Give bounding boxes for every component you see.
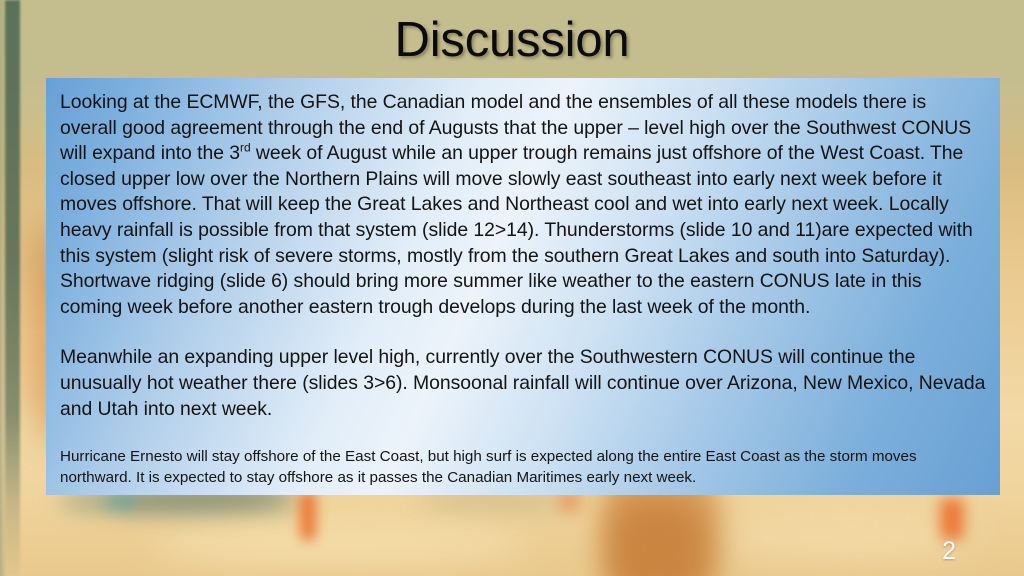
background-blur-blob [300, 492, 316, 540]
background-blur-blob [940, 498, 964, 540]
page-title: Discussion [0, 16, 1024, 65]
slide-number: 2 [942, 539, 956, 564]
discussion-text-content: Looking at the ECMWF, the GFS, the Canad… [46, 78, 1000, 495]
discussion-text-box: Looking at the ECMWF, the GFS, the Canad… [46, 78, 1000, 495]
background-blur-blob [104, 494, 138, 510]
discussion-paragraph-3: Hurricane Ernesto will stay offshore of … [60, 446, 986, 488]
background-blur-blob [150, 525, 530, 565]
discussion-paragraph-2: Meanwhile an expanding upper level high,… [60, 345, 986, 422]
ordinal-suffix: rd [240, 141, 251, 155]
presentation-slide: Discussion Looking at the ECMWF, the GFS… [0, 0, 1024, 576]
discussion-paragraph-1: Looking at the ECMWF, the GFS, the Canad… [60, 90, 986, 320]
background-blur-blob [720, 516, 980, 562]
left-accent-strip [5, 0, 20, 576]
background-blur-blob [612, 500, 704, 576]
discussion-paragraph-1-part2: week of August while an upper trough rem… [60, 142, 973, 318]
